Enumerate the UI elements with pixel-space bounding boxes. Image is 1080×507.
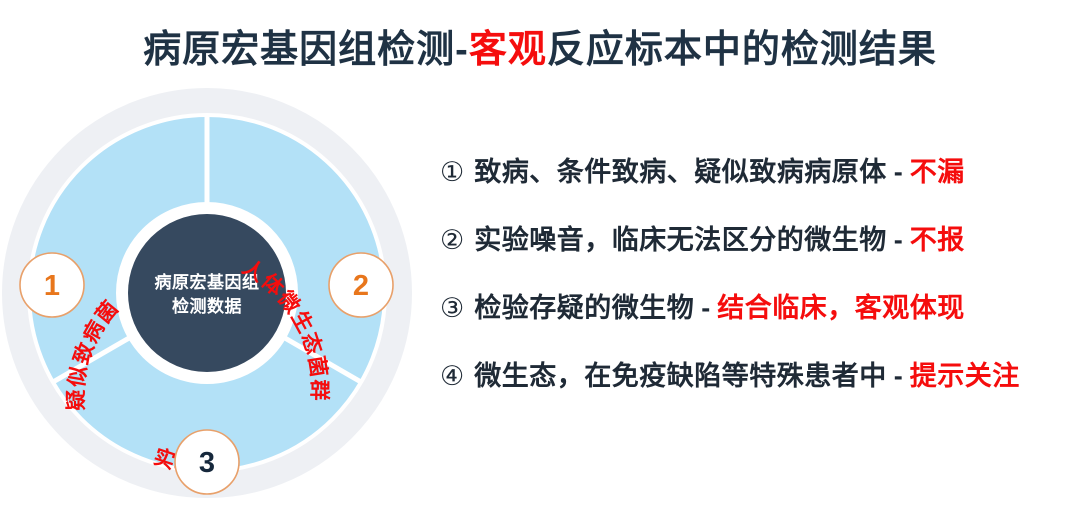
segment-badge-1[interactable]: 1 [20,253,84,317]
center-label-line2: 检测数据 [172,296,242,316]
list-item: ③ 检验存疑的微生物 - 结合临床，客观体现 [440,286,1070,354]
list-item-separator: - [701,293,710,324]
list-item-text: 致病、条件致病、疑似致病病原体 [474,150,887,189]
list-item: ② 实验噪音，临床无法区分的微生物 - 不报 [440,218,1070,286]
list-item-separator: - [894,225,903,256]
list-item-separator: - [894,361,903,392]
list-item-text: 微生态，在免疫缺陷等特殊患者中 [474,354,887,393]
segment-badge-3-number: 3 [199,447,215,479]
segment-badge-2-number: 2 [353,270,369,302]
list-item: ① 致病、条件致病、疑似致病病原体 - 不漏 [440,150,1070,218]
list-item-separator: - [894,157,903,188]
list-item-marker: ③ [440,293,464,324]
center-hub [128,214,286,372]
list-item-highlight: 不漏 [910,150,965,189]
list-item: ④ 微生态，在免疫缺陷等特殊患者中 - 提示关注 [440,354,1070,422]
list-item-marker: ① [440,157,464,188]
list-item-text: 实验噪音，临床无法区分的微生物 [474,218,887,257]
segment-badge-2[interactable]: 2 [329,253,393,317]
segment-badge-3[interactable]: 3 [175,430,239,494]
title-accent: 客观 [469,29,547,71]
donut-diagram: 病原宏基因组 检测数据 疑似致病菌 人体微生态菌群 实验噪音 1 [0,80,420,507]
segment-badge-1-number: 1 [44,270,60,302]
title-suffix: 反应标本中的检测结果 [547,29,937,71]
findings-list: ① 致病、条件致病、疑似致病病原体 - 不漏 ② 实验噪音，临床无法区分的微生物… [440,150,1070,422]
title-prefix: 病原宏基因组检测- [143,29,469,71]
list-item-highlight: 提示关注 [910,354,1020,393]
list-item-highlight: 不报 [910,218,965,257]
list-item-marker: ② [440,225,464,256]
list-item-text: 检验存疑的微生物 [474,286,694,325]
list-item-highlight: 结合临床，客观体现 [717,286,965,325]
list-item-marker: ④ [440,361,464,392]
page-title: 病原宏基因组检测-客观反应标本中的检测结果 [0,18,1080,73]
